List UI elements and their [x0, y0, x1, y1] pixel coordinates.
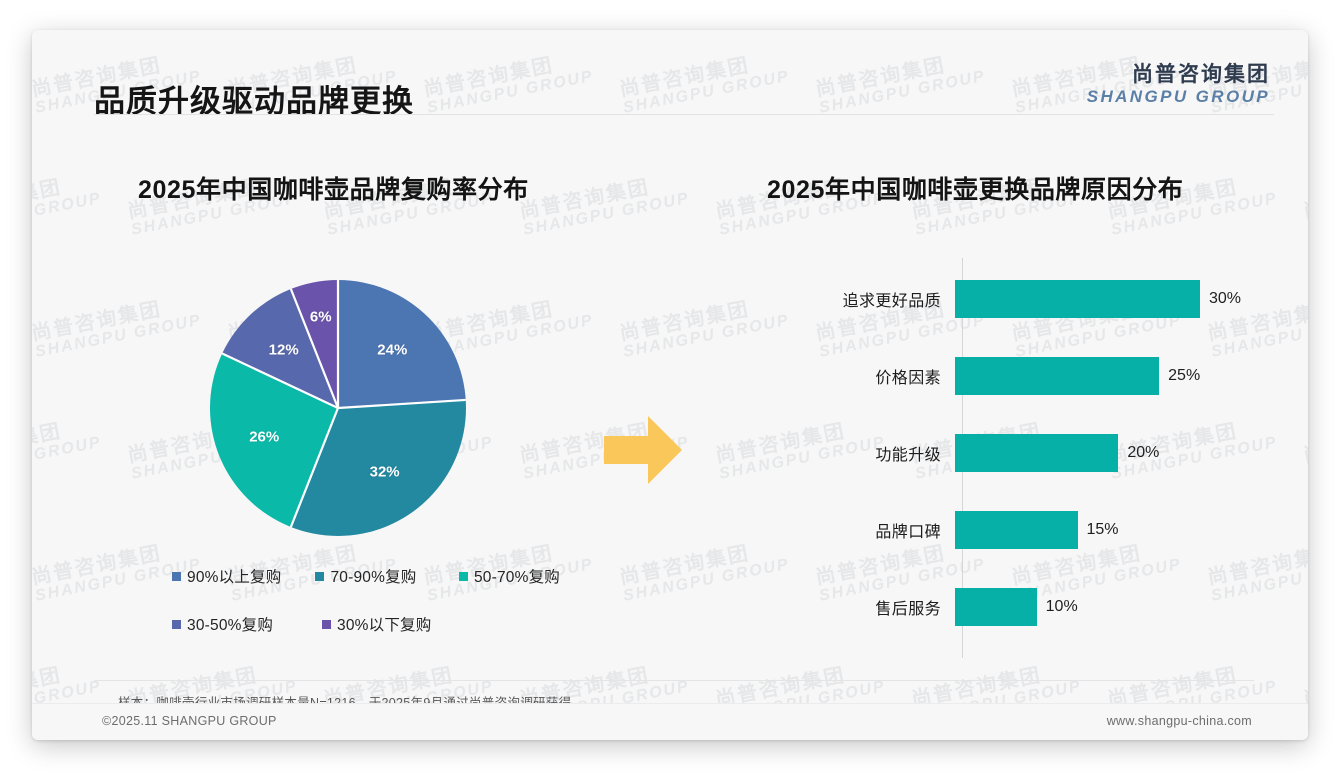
- bar-row: 功能升级20%: [767, 434, 1247, 472]
- bar-row: 追求更好品质30%: [767, 280, 1247, 318]
- bar-value-label: 15%: [1087, 521, 1119, 539]
- slide-footer: ©2025.11 SHANGPU GROUP www.shangpu-china…: [32, 703, 1308, 740]
- pie-slice-label: 24%: [377, 342, 407, 359]
- legend-item-4[interactable]: 30%以下复购: [322, 613, 482, 635]
- legend-item-3[interactable]: 30-50%复购: [172, 613, 322, 635]
- pie-slice-label: 32%: [370, 464, 400, 481]
- pie-slice-label: 26%: [249, 429, 279, 446]
- bar-category-label: 品牌口碑: [767, 518, 955, 542]
- legend-label: 70-90%复购: [330, 565, 416, 587]
- brand-logo: 尚普咨询集团 SHANGPU GROUP: [1087, 63, 1270, 107]
- legend-swatch-icon: [172, 620, 181, 629]
- pie-separators: [210, 280, 466, 536]
- footer-copyright: ©2025.11 SHANGPU GROUP: [102, 714, 277, 728]
- legend-row: 90%以上复购70-90%复购50-70%复购: [172, 565, 612, 587]
- legend-label: 50-70%复购: [474, 565, 560, 587]
- bar-fill[interactable]: [955, 434, 1118, 472]
- legend-label: 30-50%复购: [187, 613, 273, 635]
- bar-fill[interactable]: [955, 280, 1200, 318]
- slide-canvas: 尚普咨询集团SHANGPU GROUP尚普咨询集团SHANGPU GROUP尚普…: [32, 30, 1308, 740]
- bar-fill[interactable]: [955, 357, 1159, 395]
- legend-label: 90%以上复购: [187, 565, 281, 587]
- left-chart-title: 2025年中国咖啡壶品牌复购率分布: [138, 170, 529, 206]
- bar-value-label: 20%: [1127, 444, 1159, 462]
- legend-item-1[interactable]: 70-90%复购: [315, 565, 458, 587]
- legend-row: 30-50%复购30%以下复购: [172, 613, 612, 635]
- bar-category-label: 追求更好品质: [767, 287, 955, 311]
- bar-value-label: 30%: [1209, 290, 1241, 308]
- footer-website[interactable]: www.shangpu-china.com: [1107, 714, 1252, 728]
- brand-name-cn: 尚普咨询集团: [1087, 63, 1270, 87]
- bar-fill[interactable]: [955, 588, 1037, 626]
- legend-swatch-icon: [322, 620, 331, 629]
- legend-label: 30%以下复购: [337, 613, 431, 635]
- right-chart-title: 2025年中国咖啡壶更换品牌原因分布: [767, 170, 1183, 206]
- bar-category-label: 售后服务: [767, 595, 955, 619]
- slide-header: 品质升级驱动品牌更换 尚普咨询集团 SHANGPU GROUP: [32, 30, 1308, 116]
- bar-row: 品牌口碑15%: [767, 511, 1247, 549]
- bar-value-label: 25%: [1168, 367, 1200, 385]
- legend-swatch-icon: [459, 572, 468, 581]
- legend-swatch-icon: [315, 572, 324, 581]
- source-divider: [94, 680, 1254, 681]
- pie-chart: 24%32%26%12%6%: [210, 280, 466, 536]
- pie-slice-label: 12%: [269, 342, 299, 359]
- bar-fill[interactable]: [955, 511, 1078, 549]
- bar-row: 售后服务10%: [767, 588, 1247, 626]
- pie-legend: 90%以上复购70-90%复购50-70%复购30-50%复购30%以下复购: [172, 565, 612, 661]
- bar-category-label: 价格因素: [767, 364, 955, 388]
- brand-name-en: SHANGPU GROUP: [1087, 87, 1270, 107]
- pie-slice-label: 6%: [310, 309, 332, 326]
- legend-item-2[interactable]: 50-70%复购: [459, 565, 612, 587]
- legend-swatch-icon: [172, 572, 181, 581]
- arrow-right-icon: [600, 412, 686, 488]
- bar-value-label: 10%: [1046, 598, 1078, 616]
- legend-item-0[interactable]: 90%以上复购: [172, 565, 315, 587]
- bar-row: 价格因素25%: [767, 357, 1247, 395]
- header-divider: [94, 114, 1274, 115]
- slide-body: 2025年中国咖啡壶品牌复购率分布 24%32%26%12%6% 90%以上复购…: [32, 122, 1308, 662]
- bar-chart: 追求更好品质30%价格因素25%功能升级20%品牌口碑15%售后服务10%: [767, 258, 1247, 658]
- bar-category-label: 功能升级: [767, 441, 955, 465]
